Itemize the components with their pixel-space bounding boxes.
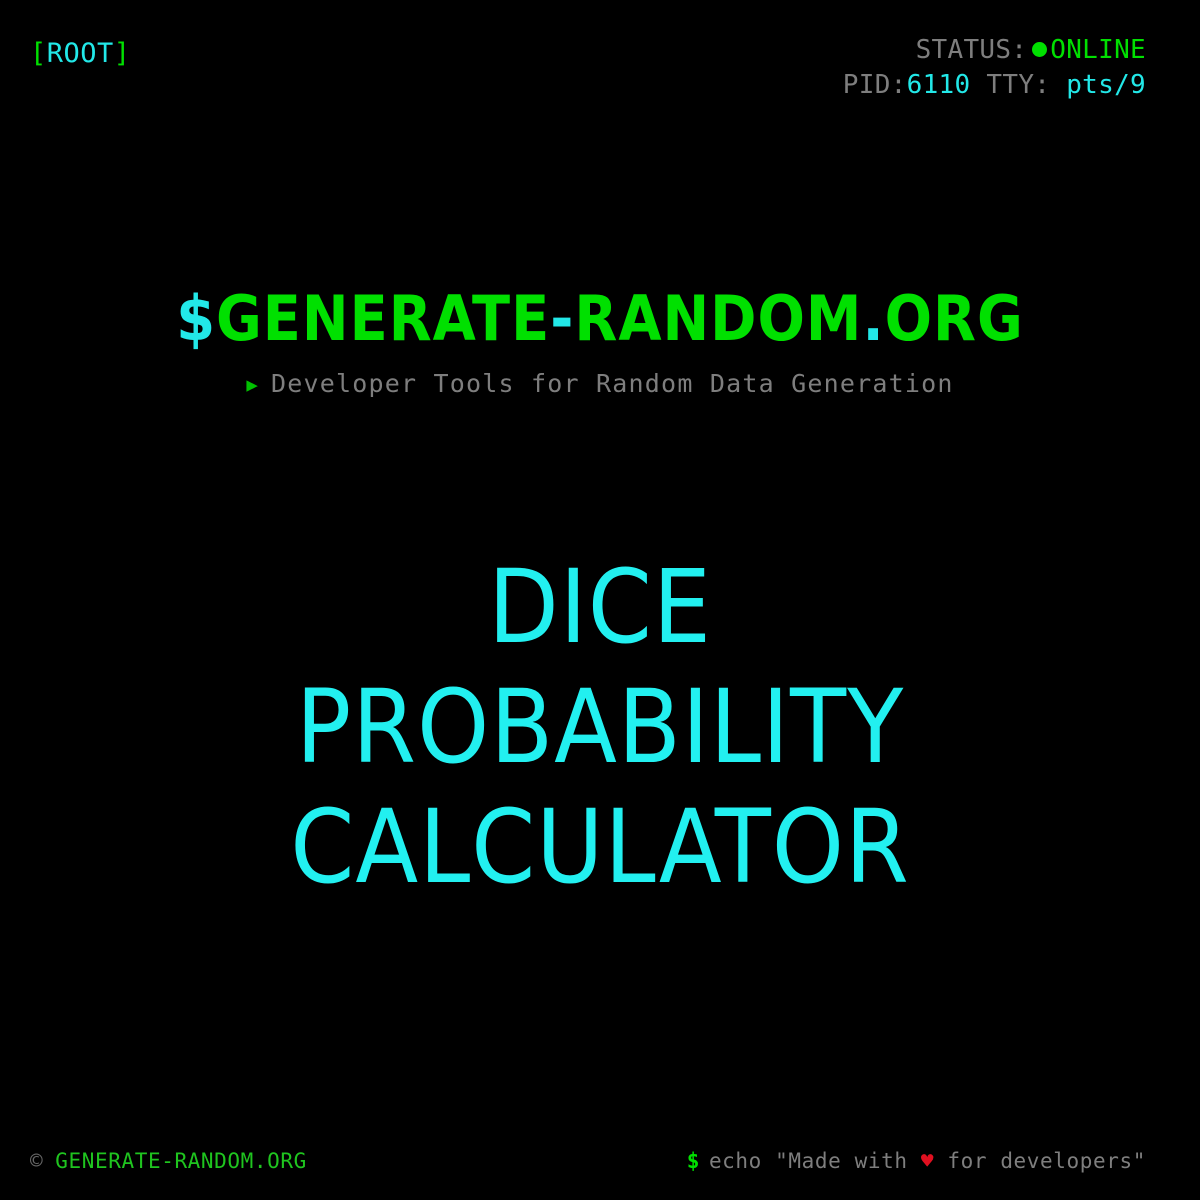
- brand-title: $GENERATE-RANDOM.ORG: [0, 286, 1200, 351]
- brand-block: $GENERATE-RANDOM.ORG ▶Developer Tools fo…: [0, 286, 1200, 396]
- brand-dash: -: [550, 282, 574, 355]
- brand-part-random: RANDOM: [574, 282, 862, 355]
- brand-prompt: $: [176, 282, 216, 355]
- status-line: STATUS:ONLINE: [843, 33, 1146, 68]
- footer-site-name: GENERATE-RANDOM.ORG: [55, 1149, 307, 1173]
- footer-bar: ©GENERATE-RANDOM.ORG $echo "Made with ♥ …: [0, 1110, 1200, 1200]
- shell-prompt-icon: $: [687, 1149, 700, 1173]
- page-title-line-1: DICE: [0, 548, 1200, 668]
- copyright: ©GENERATE-RANDOM.ORG: [30, 1151, 307, 1172]
- header-bar: [ROOT] STATUS:ONLINE PID:6110 TTY: pts/9: [0, 0, 1200, 120]
- pid-label: PID:: [843, 70, 907, 100]
- status-label: STATUS:: [916, 35, 1028, 65]
- process-line: PID:6110 TTY: pts/9: [843, 68, 1146, 103]
- status-badge: ONLINE: [1050, 35, 1146, 65]
- status-dot-icon: [1032, 42, 1047, 57]
- footer-command-before: echo "Made with: [709, 1149, 908, 1173]
- footer-command-after: for developers": [947, 1149, 1146, 1173]
- play-triangle-icon: ▶: [246, 374, 259, 396]
- pid-value: 6110: [907, 70, 971, 100]
- system-info: STATUS:ONLINE PID:6110 TTY: pts/9: [843, 33, 1146, 102]
- brand-part-org: ORG: [885, 282, 1024, 355]
- root-bracket-close: ]: [114, 38, 131, 69]
- tty-label: TTY:: [986, 70, 1050, 100]
- copyright-icon: ©: [30, 1149, 43, 1173]
- terminal-screen: [ROOT] STATUS:ONLINE PID:6110 TTY: pts/9…: [0, 0, 1200, 1200]
- heart-icon: ♥: [921, 1149, 934, 1173]
- page-title-line-3: CALCULATOR: [0, 788, 1200, 908]
- brand-dot: .: [862, 282, 884, 355]
- brand-part-generate: GENERATE: [216, 282, 550, 355]
- tagline-text: Developer Tools for Random Data Generati…: [271, 369, 954, 398]
- footer-command: $echo "Made with ♥ for developers": [687, 1151, 1146, 1172]
- root-label: ROOT: [47, 38, 114, 69]
- root-tag: [ROOT]: [30, 40, 131, 67]
- tagline: ▶Developer Tools for Random Data Generat…: [0, 371, 1200, 396]
- root-bracket-open: [: [30, 38, 47, 69]
- tty-value: pts/9: [1066, 70, 1146, 100]
- page-title-line-2: PROBABILITY: [0, 668, 1200, 788]
- page-title: DICE PROBABILITY CALCULATOR: [0, 548, 1200, 908]
